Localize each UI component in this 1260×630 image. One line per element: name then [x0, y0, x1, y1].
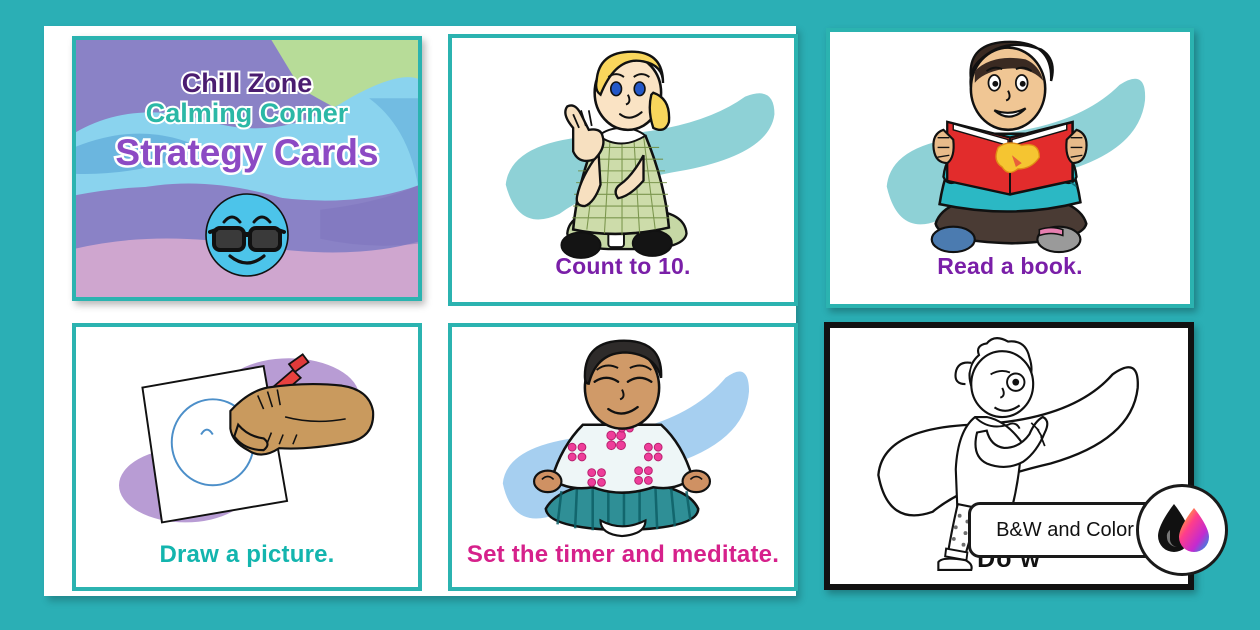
worksheet-page: Chill Zone Calming Corner Strategy Cards	[44, 26, 796, 596]
card-count-to-10[interactable]: Count to 10.	[448, 34, 798, 306]
badge-label: B&W and Color	[996, 519, 1134, 542]
card-draw-a-picture[interactable]: Draw a picture.	[72, 323, 422, 591]
card-title[interactable]: Chill Zone Calming Corner Strategy Cards	[72, 36, 422, 301]
ink-droplets-icon	[1136, 484, 1228, 576]
title-line-3: Strategy Cards	[76, 132, 418, 174]
cool-smiley-icon	[204, 192, 290, 278]
title-line-2: Calming Corner	[76, 98, 418, 129]
card-caption: Read a book.	[830, 253, 1190, 280]
card-caption: Draw a picture.	[76, 541, 418, 569]
card-caption: Set the timer and meditate.	[452, 541, 794, 569]
bw-and-color-badge[interactable]: B&W and Color	[968, 502, 1162, 558]
ink-droplet-glyphs	[1150, 498, 1214, 562]
card-set-the-timer-and-meditate[interactable]: Set the timer and meditate.	[448, 323, 798, 591]
card-caption: Count to 10.	[452, 253, 794, 280]
card-read-a-book[interactable]: Read a book.	[826, 28, 1194, 308]
title-line-1: Chill Zone	[76, 68, 418, 99]
